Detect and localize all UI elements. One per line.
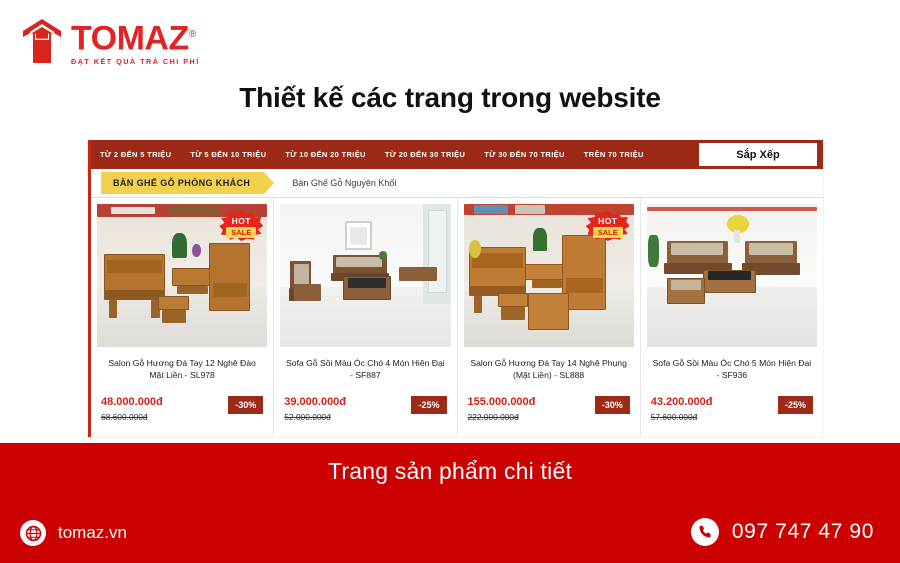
product-price-row: 155.000.000đ 222.000.000đ -30% (464, 396, 634, 422)
footer-phone-text: 097 747 47 90 (732, 520, 874, 544)
product-title[interactable]: Salon Gỗ Hương Đá Tay 14 Nghê Phụng (Mặt… (464, 357, 634, 383)
tab-ban-ghe-go-nguyen-khoi[interactable]: Bàn Ghế Gỗ Nguyên Khối (292, 178, 396, 188)
shop-page-screenshot: TỪ 2 ĐẾN 5 TRIỆU TỪ 5 ĐẾN 10 TRIỆU TỪ 10… (88, 140, 823, 437)
category-tab-bar: BÀN GHẾ GỖ PHÒNG KHÁCH Bàn Ghế Gỗ Nguyên… (91, 169, 823, 198)
product-old-price: 68.600.000đ (101, 412, 163, 422)
hot-sale-badge-line2: SALE (593, 227, 623, 238)
product-card[interactable]: Sofa Gỗ Sồi Màu Óc Chó 4 Món Hiện Đại - … (274, 198, 457, 437)
price-filter-bar: TỪ 2 ĐẾN 5 TRIỆU TỪ 5 ĐẾN 10 TRIỆU TỪ 10… (91, 140, 823, 169)
product-title[interactable]: Sofa Gỗ Sồi Màu Óc Chó 4 Món Hiện Đại - … (280, 357, 450, 383)
product-price-row: 43.200.000đ 57.600.000đ -25% (647, 396, 817, 422)
product-old-price: 57.600.000đ (651, 412, 713, 422)
hot-sale-badge: HOT SALE (586, 211, 630, 241)
sort-button[interactable]: Sắp Xếp (699, 143, 817, 166)
globe-icon (20, 520, 46, 546)
footer-website-text: tomaz.vn (58, 523, 127, 543)
product-image[interactable] (647, 204, 817, 347)
product-title[interactable]: Salon Gỗ Hương Đá Tay 12 Nghê Đào Mặt Li… (97, 357, 267, 383)
phone-icon (691, 518, 719, 546)
product-grid: HOT SALE Salon Gỗ Hương Đá Tay 12 Nghê Đ… (91, 198, 823, 437)
filter-item-3[interactable]: TỪ 20 ĐẾN 30 TRIỆU (385, 150, 465, 159)
discount-badge: -25% (411, 396, 446, 414)
discount-badge: -25% (778, 396, 813, 414)
hot-sale-badge-line1: HOT (219, 216, 263, 226)
product-price: 155.000.000đ (468, 396, 536, 409)
hot-sale-badge: HOT SALE (219, 211, 263, 241)
filter-item-5[interactable]: TRÊN 70 TRIỆU (584, 150, 644, 159)
brand-name-text: TOMAZ (71, 19, 189, 57)
discount-badge: -30% (228, 396, 263, 414)
brand-tagline: ĐẠT KẾT QUẢ TRẢ CHI PHÍ (71, 57, 200, 66)
hot-sale-badge-line2: SALE (226, 227, 256, 238)
product-title[interactable]: Sofa Gỗ Sồi Màu Óc Chó 5 Món Hiện Đại - … (647, 357, 817, 383)
filter-item-0[interactable]: TỪ 2 ĐẾN 5 TRIỆU (100, 150, 171, 159)
filter-item-4[interactable]: TỪ 30 ĐẾN 70 TRIỆU (484, 150, 564, 159)
product-image[interactable] (280, 204, 450, 347)
footer-phone[interactable]: 097 747 47 90 (691, 518, 874, 546)
registered-mark: ® (189, 29, 196, 40)
product-price-row: 39.000.000đ 52.000.000đ -25% (280, 396, 450, 422)
filter-item-1[interactable]: TỪ 5 ĐẾN 10 TRIỆU (190, 150, 266, 159)
product-card[interactable]: HOT SALE Salon Gỗ Hương Đá Tay 12 Nghê Đ… (91, 198, 274, 437)
band-caption: Trang sản phẩm chi tiết (0, 458, 900, 485)
page-title: Thiết kế các trang trong website (0, 82, 900, 114)
product-image[interactable]: HOT SALE (97, 204, 267, 347)
brand-name: TOMAZ® (71, 19, 200, 54)
discount-badge: -30% (595, 396, 630, 414)
product-price-row: 48.000.000đ 68.600.000đ -30% (97, 396, 267, 422)
product-price: 43.200.000đ (651, 396, 713, 409)
product-old-price: 222.000.000đ (468, 412, 536, 422)
tab-ban-ghe-go-phong-khach[interactable]: BÀN GHẾ GỖ PHÒNG KHÁCH (101, 172, 264, 194)
tomaz-arrow-icon (22, 18, 62, 64)
product-price: 39.000.000đ (284, 396, 346, 409)
brand-logo: TOMAZ® ĐẠT KẾT QUẢ TRẢ CHI PHÍ (22, 18, 200, 66)
product-card[interactable]: Sofa Gỗ Sồi Màu Óc Chó 5 Món Hiện Đại - … (641, 198, 823, 437)
product-price: 48.000.000đ (101, 396, 163, 409)
product-old-price: 52.000.000đ (284, 412, 346, 422)
hot-sale-badge-line1: HOT (586, 216, 630, 226)
footer-website[interactable]: tomaz.vn (20, 520, 127, 546)
filter-item-2[interactable]: TỪ 10 ĐẾN 20 TRIỆU (285, 150, 365, 159)
product-card[interactable]: HOT SALE Salon Gỗ Hương Đá Tay 14 Nghê P… (458, 198, 641, 437)
slide-root: TOMAZ® ĐẠT KẾT QUẢ TRẢ CHI PHÍ Thiết kế … (0, 0, 900, 563)
product-image[interactable]: HOT SALE (464, 204, 634, 347)
